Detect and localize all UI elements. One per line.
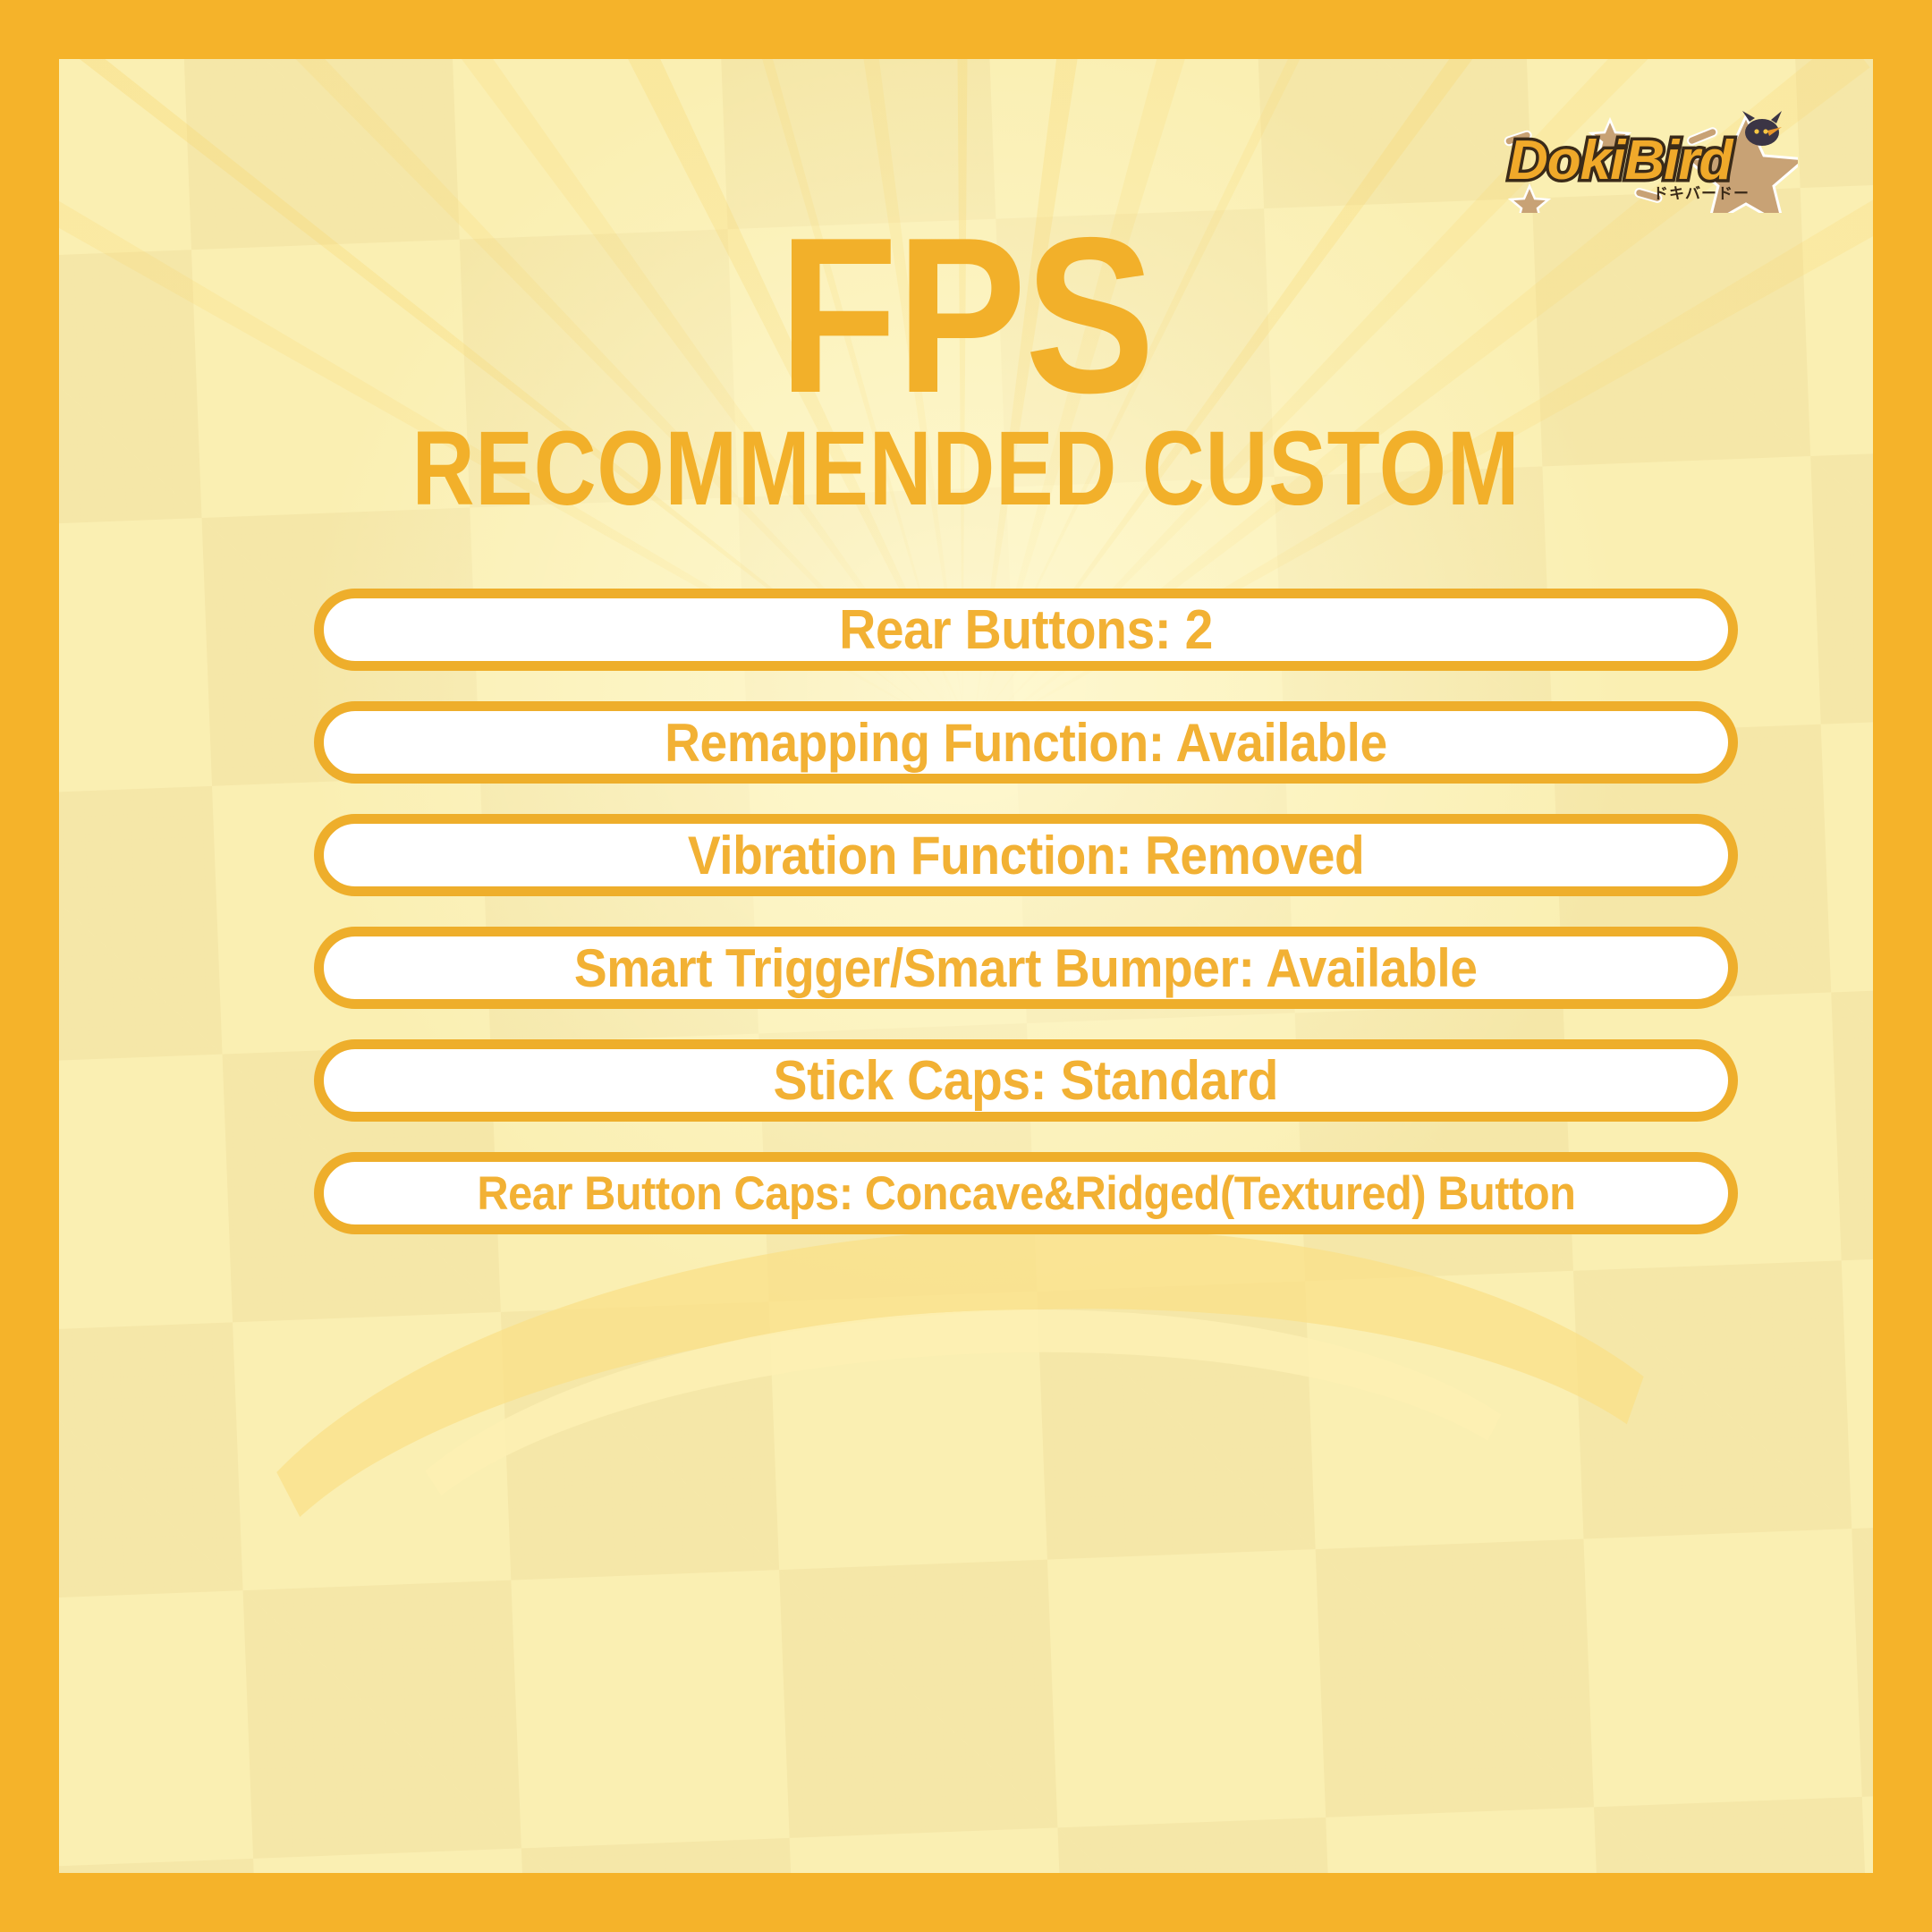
spec-pill[interactable]: Stick Caps: Standard	[314, 1039, 1738, 1122]
page-subtitle: RECOMMENDED CUSTOM	[223, 416, 1710, 521]
spec-pill-label: Remapping Function: Available	[665, 712, 1387, 774]
spec-pill-label: Rear Button Caps: Concave&Ridged(Texture…	[477, 1166, 1575, 1221]
spec-pill[interactable]: Smart Trigger/Smart Bumper: Available	[314, 927, 1738, 1009]
spec-pill[interactable]: Vibration Function: Removed	[314, 814, 1738, 896]
logo-subtext: ドキバードー	[1653, 185, 1750, 202]
spec-list: Rear Buttons: 2Remapping Function: Avail…	[314, 589, 1738, 1265]
spec-pill[interactable]: Remapping Function: Available	[314, 701, 1738, 784]
dokibird-logo[interactable]: DokiBird ドキバードー	[1503, 109, 1798, 213]
spec-pill[interactable]: Rear Button Caps: Concave&Ridged(Texture…	[314, 1152, 1738, 1234]
poster-root: DokiBird ドキバードー FPS RECOMMENDED CUSTOM R…	[0, 0, 1932, 1932]
logo-wordmark-text: DokiBird	[1508, 130, 1733, 191]
spec-pill[interactable]: Rear Buttons: 2	[314, 589, 1738, 671]
title-block: FPS RECOMMENDED CUSTOM	[59, 220, 1873, 521]
spec-pill-label: Stick Caps: Standard	[774, 1049, 1279, 1113]
poster-canvas: DokiBird ドキバードー FPS RECOMMENDED CUSTOM R…	[59, 59, 1873, 1873]
spec-pill-label: Smart Trigger/Smart Bumper: Available	[574, 937, 1478, 999]
spec-pill-label: Rear Buttons: 2	[839, 598, 1213, 662]
spec-pill-label: Vibration Function: Removed	[688, 825, 1364, 886]
page-title: FPS	[168, 220, 1765, 411]
